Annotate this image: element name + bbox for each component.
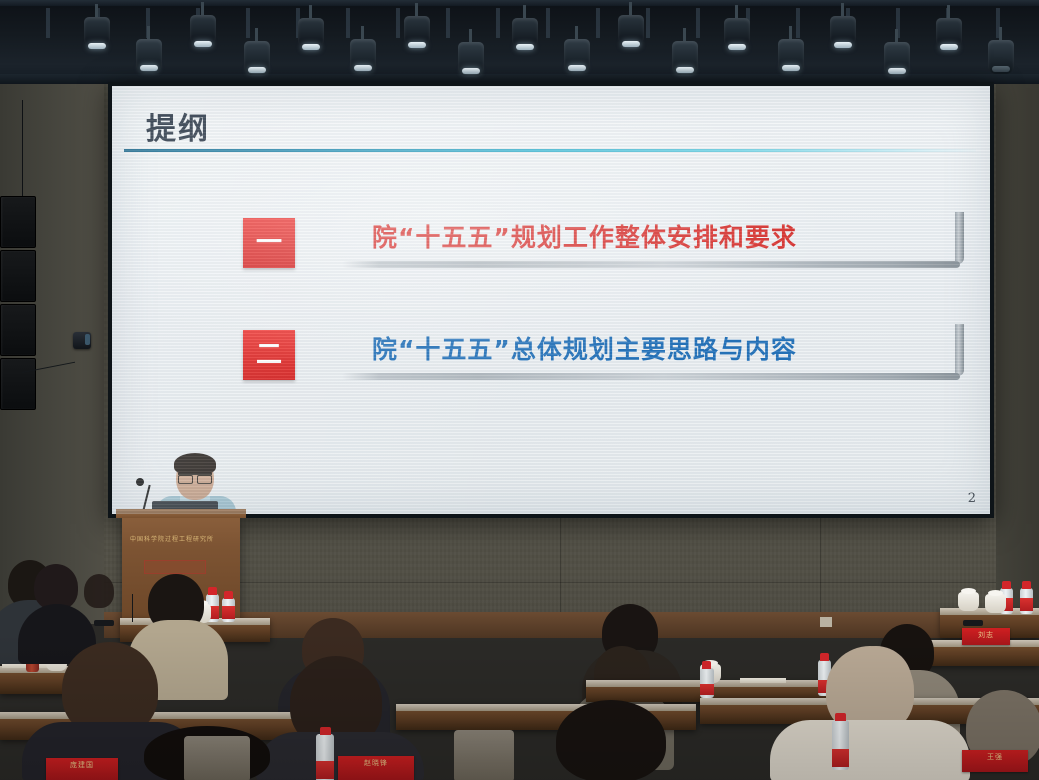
microphone-icon <box>136 478 144 486</box>
speaker-cabinet <box>0 358 36 410</box>
right-wall <box>996 84 1039 624</box>
name-placard: 王强 <box>962 750 1028 772</box>
presentation-slide: 提纲 一 院“十五五”规划工作整体安排和要求 二 <box>112 86 990 514</box>
placard-name: 赵晓锋 <box>338 756 414 770</box>
speaker-cabinet <box>0 304 36 356</box>
water-bottle <box>700 668 714 698</box>
line-array-speaker-stack <box>0 196 34 412</box>
slide-page-number: 2 <box>968 491 976 506</box>
outline-number-badge: 一 <box>243 218 295 268</box>
water-bottle <box>316 734 334 780</box>
ceiling <box>0 0 1039 86</box>
audience-area: 刘志 <box>0 560 1039 780</box>
lectern-top <box>116 509 246 518</box>
placard-name: 刘志 <box>962 628 1010 642</box>
outline-item[interactable]: 二 院“十五五”总体规划主要思路与内容 <box>112 318 990 430</box>
document <box>740 678 786 683</box>
outline-item[interactable]: 一 院“十五五”规划工作整体安排和要求 <box>112 206 990 318</box>
bracket-bottom-edge <box>342 373 960 380</box>
lidded-teacup <box>958 592 979 611</box>
audience-member-head <box>84 574 114 608</box>
presenter-hair <box>174 453 216 475</box>
desk-microphone-stem <box>132 594 133 622</box>
projection-screen: 提纲 一 院“十五五”规划工作整体安排和要求 二 <box>108 82 994 518</box>
audience-member-body <box>770 720 970 780</box>
wall-camera-icon <box>73 332 91 349</box>
chair-back <box>454 730 514 780</box>
name-placard: 庞建国 <box>46 758 118 780</box>
outline-item-label: 院“十五五”规划工作整体安排和要求 <box>372 216 972 260</box>
outline-list: 一 院“十五五”规划工作整体安排和要求 二 院“十五五”总体规划主要思路与内容 <box>112 206 990 430</box>
placard-name: 王强 <box>962 750 1028 764</box>
lidded-teacup <box>985 594 1006 613</box>
title-divider <box>124 149 976 152</box>
desk-microphone <box>963 620 983 626</box>
name-placard: 赵晓锋 <box>338 756 414 780</box>
conference-room-photo: 提纲 一 院“十五五”规划工作整体安排和要求 二 <box>0 0 1039 780</box>
speaker-hanging-cable <box>22 100 23 198</box>
desk-microphone <box>94 620 114 626</box>
water-bottle <box>222 598 235 622</box>
audience-member-head <box>556 700 666 780</box>
ceiling-beam <box>0 0 1039 6</box>
speaker-cabinet <box>0 196 36 248</box>
lectern-engraving: 中国科学院过程工程研究所 <box>130 534 232 546</box>
chair-back <box>184 736 250 780</box>
outline-item-label: 院“十五五”总体规划主要思路与内容 <box>372 328 972 372</box>
glasses-icon <box>178 473 212 482</box>
speaker-cabinet <box>0 250 36 302</box>
outline-number-badge: 二 <box>243 330 295 380</box>
water-bottle <box>1020 588 1033 614</box>
bracket-bottom-edge <box>342 261 960 268</box>
water-bottle <box>832 720 849 770</box>
name-placard: 刘志 <box>962 628 1010 645</box>
slide-title: 提纲 <box>146 104 210 148</box>
placard-name: 庞建国 <box>46 758 118 772</box>
